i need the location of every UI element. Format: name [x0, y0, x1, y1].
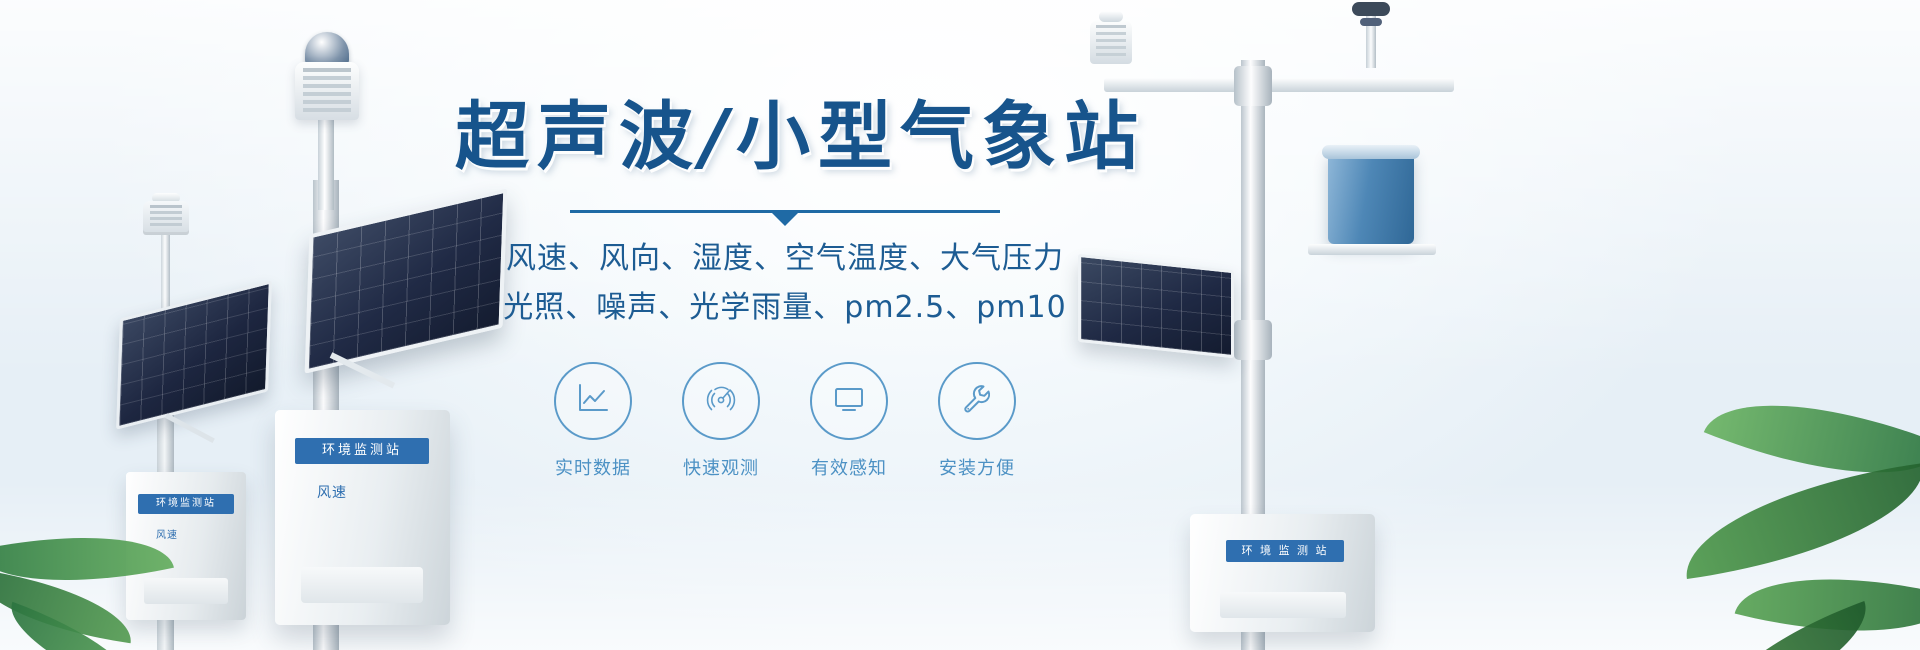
subtitle-line-2: 光照、噪声、光学雨量、pm2.5、pm10 — [455, 284, 1115, 333]
ultrasonic-wind-sensor — [1090, 20, 1132, 64]
monitor-icon — [829, 379, 869, 424]
feature-label: 实时数据 — [547, 454, 639, 480]
radar-scan-icon — [701, 379, 741, 424]
caret-down-icon — [772, 213, 798, 226]
wind-vane-sensor — [1366, 6, 1376, 68]
feature-item-easy-installation[interactable]: 安装方便 — [931, 362, 1023, 480]
title-divider — [570, 210, 1000, 213]
banner-copy-block: 超声波/小型气象站 风速、风向、湿度、空气温度、大气压力 光照、噪声、光学雨量、… — [455, 100, 1115, 480]
radiation-shield-sensor — [143, 201, 189, 235]
line-chart-icon — [573, 379, 613, 424]
feature-icon-ring — [810, 362, 888, 440]
leaf-icon — [1676, 463, 1920, 579]
headline-part-left: 超声波 — [455, 94, 701, 180]
rain-gauge — [1328, 152, 1414, 244]
cabinet-vent — [1220, 592, 1346, 618]
total-radiation-dome-sensor — [305, 32, 349, 66]
page-title: 超声波/小型气象站 — [455, 100, 1115, 174]
control-cabinet: 环境监测站 风速 — [275, 410, 450, 625]
wrench-icon — [957, 379, 997, 424]
arm-collar-upper — [1234, 66, 1272, 106]
product-banner: 环境监测站 风速 环境监测站 风速 环 境 监 测 站 — [0, 0, 1920, 650]
equipment-shelf — [1308, 244, 1436, 255]
feature-icon-ring — [554, 362, 632, 440]
feature-item-fast-observation[interactable]: 快速观测 — [675, 362, 767, 480]
cabinet-label-strip: 环 境 监 测 站 — [1226, 540, 1344, 562]
subtitle-line-1: 风速、风向、湿度、空气温度、大气压力 — [455, 235, 1115, 284]
cross-arm — [1104, 78, 1454, 92]
feature-list: 实时数据 快 — [455, 362, 1115, 480]
feature-icon-ring — [938, 362, 1016, 440]
radiation-shield-sensor — [295, 62, 359, 120]
feature-icon-ring — [682, 362, 760, 440]
headline-slash: / — [701, 94, 736, 180]
cabinet-vent — [301, 567, 423, 603]
headline-part-right: 小型气象站 — [736, 94, 1146, 180]
foliage-right — [1640, 360, 1920, 650]
solar-panel — [116, 280, 272, 429]
arm-collar-lower — [1234, 320, 1272, 360]
control-cabinet: 环 境 监 测 站 — [1190, 514, 1375, 632]
feature-label: 安装方便 — [931, 454, 1023, 480]
subtitle-block: 风速、风向、湿度、空气温度、大气压力 光照、噪声、光学雨量、pm2.5、pm10 — [455, 235, 1115, 332]
feature-label: 快速观测 — [675, 454, 767, 480]
feature-item-effective-sensing[interactable]: 有效感知 — [803, 362, 895, 480]
foliage-left — [0, 440, 200, 650]
feature-item-realtime-data[interactable]: 实时数据 — [547, 362, 639, 480]
cabinet-label-strip: 环境监测站 — [295, 438, 429, 464]
feature-label: 有效感知 — [803, 454, 895, 480]
cabinet-brand-logo: 风速 — [317, 482, 347, 502]
